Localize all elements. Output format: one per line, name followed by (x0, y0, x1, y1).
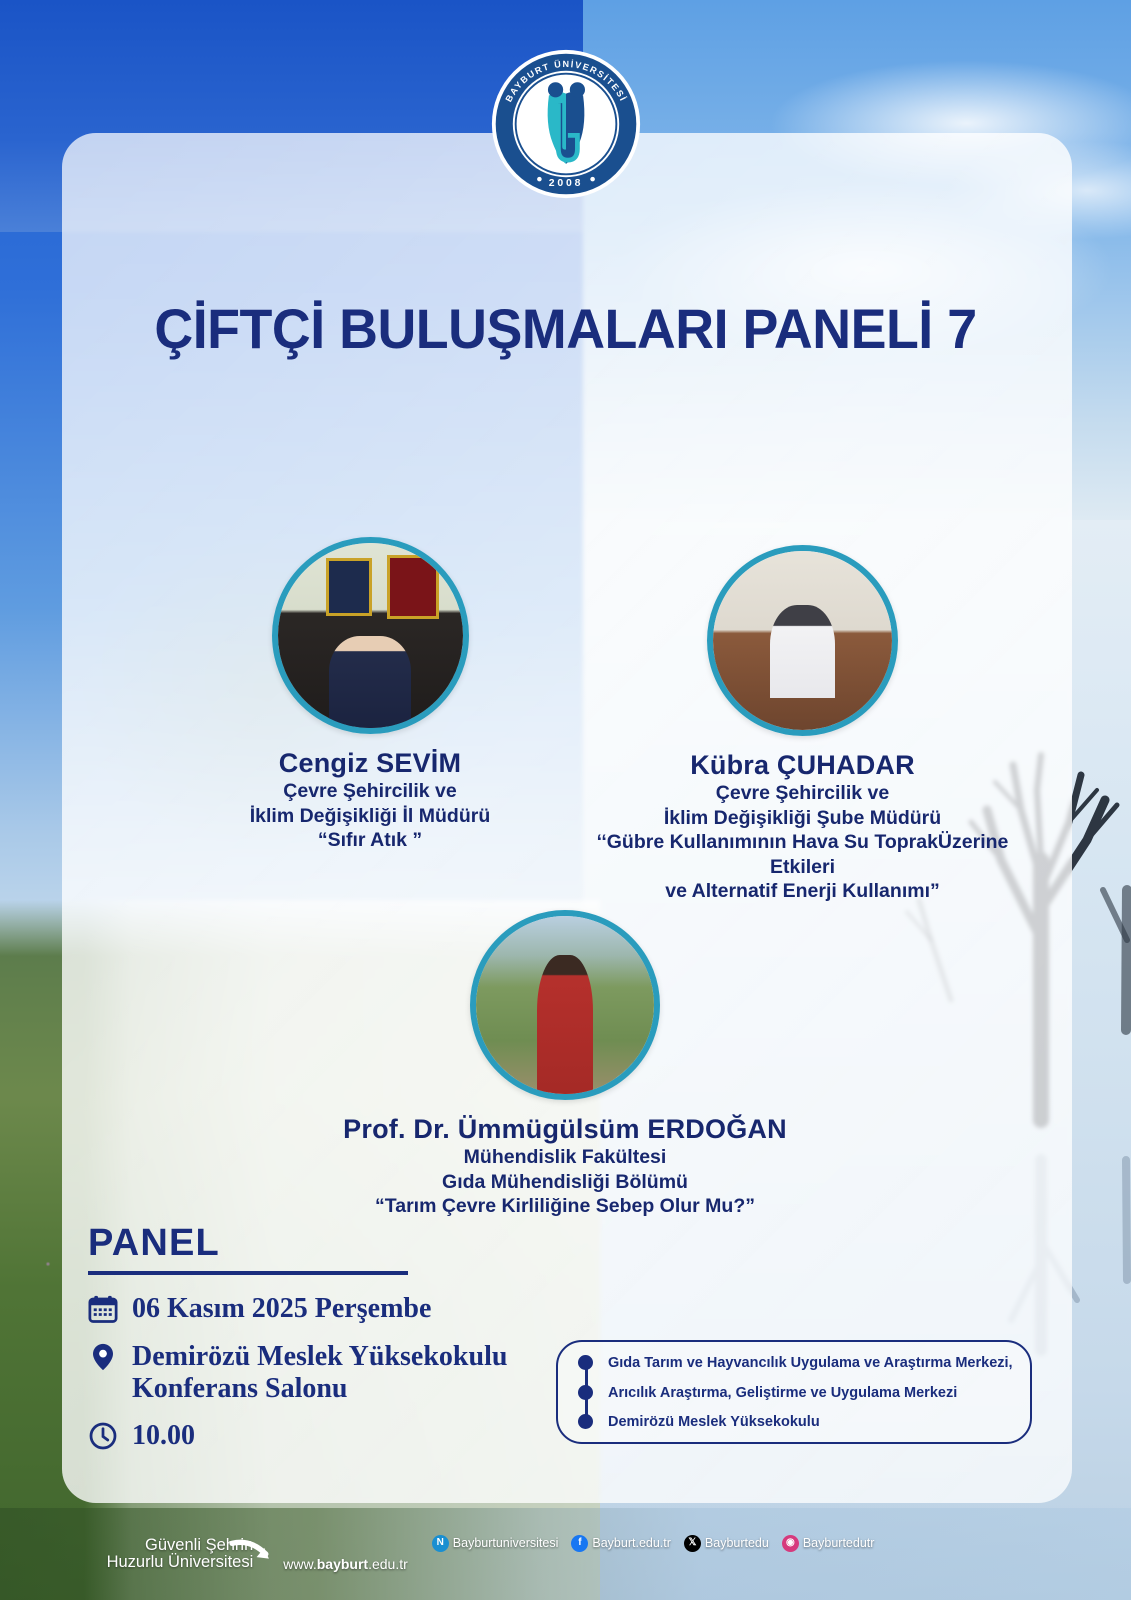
svg-text:2008: 2008 (548, 178, 583, 189)
instagram-icon: ◉ (782, 1535, 799, 1552)
footer-bar: Güvenli Şehrin Huzurlu Üniversitesi www.… (0, 1514, 1131, 1600)
social-handle: Bayburtedu (705, 1536, 769, 1550)
panel-date: 06 Kasım 2025 Perşembe (132, 1293, 431, 1325)
speaker-name: Prof. Dr. Ümmügülsüm ERDOĞAN (325, 1114, 805, 1145)
social-instagram[interactable]: ◉ Bayburtedutr (782, 1535, 875, 1552)
speaker-org-line-1: Çevre Şehircilik ve (195, 779, 545, 804)
nsosyal-icon: N (432, 1535, 449, 1552)
speaker-card-2: Kübra ÇUHADAR Çevre Şehircilik ve İklim … (575, 545, 1030, 904)
x-twitter-icon: 𝕏 (684, 1535, 701, 1552)
organizers-box: Gıda Tarım ve Hayvancılık Uygulama ve Ar… (556, 1340, 1032, 1444)
speaker-topic-line-1: “Tarım Çevre Kirliliğine Sebep Olur Mu?” (325, 1194, 805, 1219)
speaker-card-3: Prof. Dr. Ümmügülsüm ERDOĞAN Mühendislik… (325, 910, 805, 1219)
location-pin-icon (88, 1341, 118, 1373)
social-facebook[interactable]: f Bayburt.edu.tr (571, 1535, 671, 1552)
page-title: ÇİFTÇİ BULUŞMALARI PANELİ 7 (23, 296, 1109, 361)
panel-venue-line-2: Konferans Salonu (132, 1373, 348, 1404)
social-links: N Bayburtuniversitesi f Bayburt.edu.tr 𝕏… (432, 1535, 875, 1552)
social-nsosyal[interactable]: N Bayburtuniversitesi (432, 1535, 559, 1552)
speaker-org-line-2: Gıda Mühendisliği Bölümü (325, 1170, 805, 1195)
poster-root: BAYBURT ÜNİVERSİTESİ 2008 ÇİFTÇİ BULUŞMA… (0, 0, 1131, 1600)
speaker-org-line-1: Çevre Şehircilik ve (575, 781, 1030, 806)
speaker-topic-line-1: ‘‘Gübre Kullanımının Hava Su ToprakÜzeri… (575, 830, 1030, 879)
panel-heading: PANEL (88, 1222, 518, 1265)
organizer-item: Demirözü Meslek Yüksekokulu (608, 1415, 1014, 1430)
speaker-name: Cengiz SEVİM (195, 748, 545, 779)
speaker-org-line-2: İklim Değişikliği İl Müdürü (195, 804, 545, 829)
panel-time-row: 10.00 (88, 1420, 518, 1452)
website-prefix: www. (283, 1556, 316, 1572)
speaker-card-1: Cengiz SEVİM Çevre Şehircilik ve İklim D… (195, 537, 545, 853)
panel-time: 10.00 (132, 1420, 195, 1452)
calendar-icon (88, 1293, 118, 1325)
website-url[interactable]: www.bayburt.edu.tr (283, 1556, 408, 1572)
organizers-list: Gıda Tarım ve Hayvancılık Uygulama ve Ar… (578, 1356, 1014, 1430)
panel-venue-row: Demirözü Meslek Yüksekokulu Konferans Sa… (88, 1341, 518, 1404)
panel-venue: Demirözü Meslek Yüksekokulu Konferans Sa… (132, 1341, 507, 1404)
facebook-icon: f (571, 1535, 588, 1552)
website-suffix: .edu.tr (368, 1556, 408, 1572)
social-handle: Bayburtedutr (803, 1536, 875, 1550)
speaker-topic-line-2: ve Alternatif Enerji Kullanımı” (575, 879, 1030, 904)
avatar-ummugulsum-erdogan (470, 910, 660, 1100)
avatar-kubra-cuhadar (707, 545, 898, 736)
university-logo: BAYBURT ÜNİVERSİTESİ 2008 (490, 48, 642, 200)
speaker-topic-line-1: “Sıfır Atık ” (195, 828, 545, 853)
speaker-org-line-2: İklim Değişikliği Şube Müdürü (575, 806, 1030, 831)
panel-info-block: PANEL 06 Kasım 2025 Perşembe (88, 1222, 518, 1468)
panel-divider (88, 1271, 408, 1275)
clock-icon (88, 1420, 118, 1452)
curved-arrow-icon (229, 1534, 275, 1568)
social-handle: Bayburt.edu.tr (592, 1536, 671, 1550)
panel-date-row: 06 Kasım 2025 Perşembe (88, 1293, 518, 1325)
organizer-item: Gıda Tarım ve Hayvancılık Uygulama ve Ar… (608, 1356, 1014, 1371)
speaker-org-line-1: Mühendislik Fakültesi (325, 1145, 805, 1170)
organizer-item: Arıcılık Araştırma, Geliştirme ve Uygula… (608, 1386, 1014, 1401)
website-bold: bayburt (317, 1556, 368, 1572)
social-handle: Bayburtuniversitesi (453, 1536, 559, 1550)
social-x[interactable]: 𝕏 Bayburtedu (684, 1535, 769, 1552)
avatar-cengiz-sevim (272, 537, 469, 734)
panel-venue-line-1: Demirözü Meslek Yüksekokulu (132, 1341, 507, 1372)
speaker-name: Kübra ÇUHADAR (575, 750, 1030, 781)
